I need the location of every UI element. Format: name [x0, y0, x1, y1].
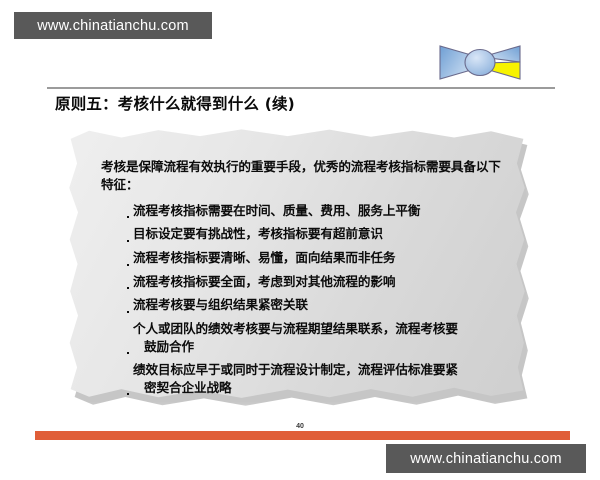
- watermark-banner-bottom: www.chinatianchu.com: [386, 444, 586, 473]
- lead-paragraph: 考核是保障流程有效执行的重要手段，优秀的流程考核指标需要具备以下特征：: [101, 158, 501, 195]
- page-title: 原则五：考核什么就得到什么 (续): [55, 92, 295, 114]
- title-divider-rule: [47, 87, 555, 89]
- list-item-line1: 流程考核指标需要在时间、质量、费用、服务上平衡: [133, 203, 420, 218]
- footer-accent-bar: [35, 431, 570, 440]
- list-item-line1: 流程考核要与组织结果紧密关联: [133, 297, 308, 312]
- list-item: 目标设定要有挑战性，考核指标要有超前意识: [127, 225, 501, 243]
- bullet-dot-icon: [127, 393, 129, 395]
- content-text-area: 考核是保障流程有效执行的重要手段，优秀的流程考核指标需要具备以下特征： 流程考核…: [101, 158, 501, 402]
- list-item-line1: 绩效目标应早于或同时于流程设计制定，流程评估标准要紧: [133, 362, 458, 377]
- list-item-line1: 目标设定要有挑战性，考核指标要有超前意识: [133, 226, 383, 241]
- list-item-line1: 流程考核指标要清晰、易懂，面向结果而非任务: [133, 250, 395, 265]
- list-item: 个人或团队的绩效考核要与流程期望结果联系，流程考核要 鼓励合作: [127, 320, 501, 355]
- list-item: 绩效目标应早于或同时于流程设计制定，流程评估标准要紧 密契合企业战略: [127, 361, 501, 396]
- watermark-top-text: www.chinatianchu.com: [37, 18, 189, 34]
- list-item: 流程考核要与组织结果紧密关联: [127, 296, 501, 314]
- list-item: 流程考核指标要清晰、易懂，面向结果而非任务: [127, 249, 501, 267]
- bowtie-hourglass-logo: [437, 41, 523, 86]
- torn-paper-content-block: 考核是保障流程有效执行的重要手段，优秀的流程考核指标需要具备以下特征： 流程考核…: [66, 128, 532, 408]
- watermark-banner-top: www.chinatianchu.com: [14, 12, 212, 39]
- list-item: 流程考核指标需要在时间、质量、费用、服务上平衡: [127, 202, 501, 220]
- list-item-line1: 个人或团队的绩效考核要与流程期望结果联系，流程考核要: [133, 321, 458, 336]
- page-number: 40: [0, 423, 600, 430]
- bullet-dot-icon: [127, 352, 129, 354]
- list-item-line2: 鼓励合作: [133, 338, 501, 356]
- list-item: 流程考核指标要全面，考虑到对其他流程的影响: [127, 273, 501, 291]
- list-item-line2: 密契合企业战略: [133, 379, 501, 397]
- bullet-dot-icon: [127, 216, 129, 218]
- bullet-dot-icon: [127, 311, 129, 313]
- feature-bullet-list: 流程考核指标需要在时间、质量、费用、服务上平衡 目标设定要有挑战性，考核指标要有…: [101, 202, 501, 397]
- bullet-dot-icon: [127, 287, 129, 289]
- bullet-dot-icon: [127, 264, 129, 266]
- list-item-line1: 流程考核指标要全面，考虑到对其他流程的影响: [133, 274, 395, 289]
- bullet-dot-icon: [127, 240, 129, 242]
- watermark-bottom-text: www.chinatianchu.com: [410, 451, 562, 467]
